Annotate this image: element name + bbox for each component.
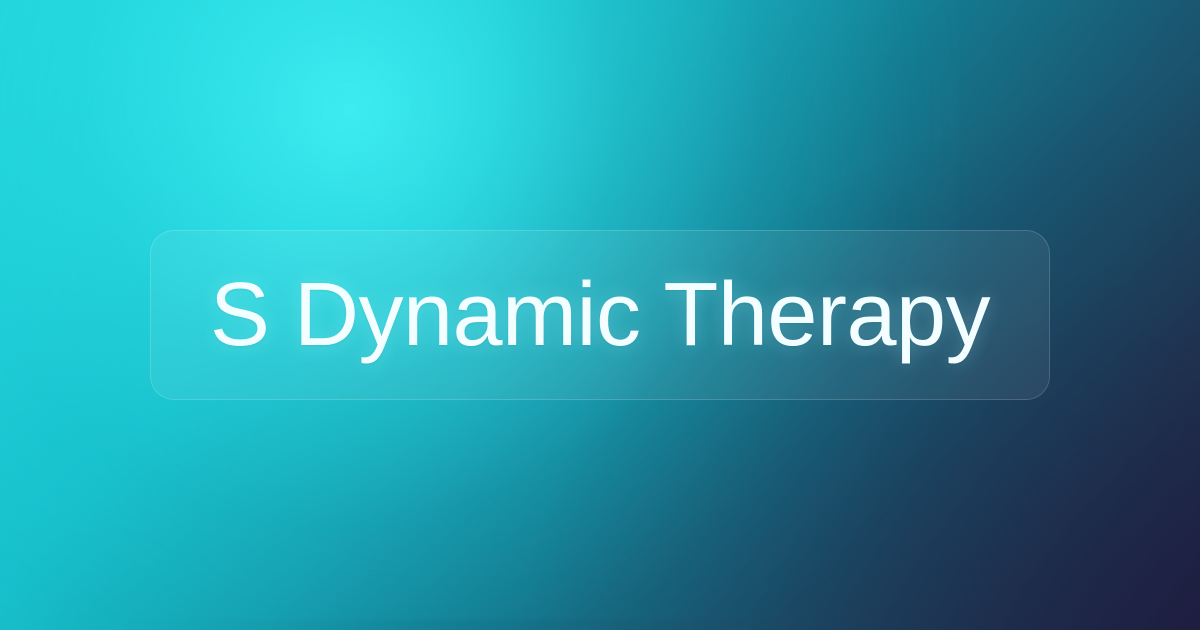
page-title: S Dynamic Therapy	[210, 270, 990, 360]
title-card: S Dynamic Therapy	[150, 230, 1050, 400]
og-image-canvas: S Dynamic Therapy	[0, 0, 1200, 630]
